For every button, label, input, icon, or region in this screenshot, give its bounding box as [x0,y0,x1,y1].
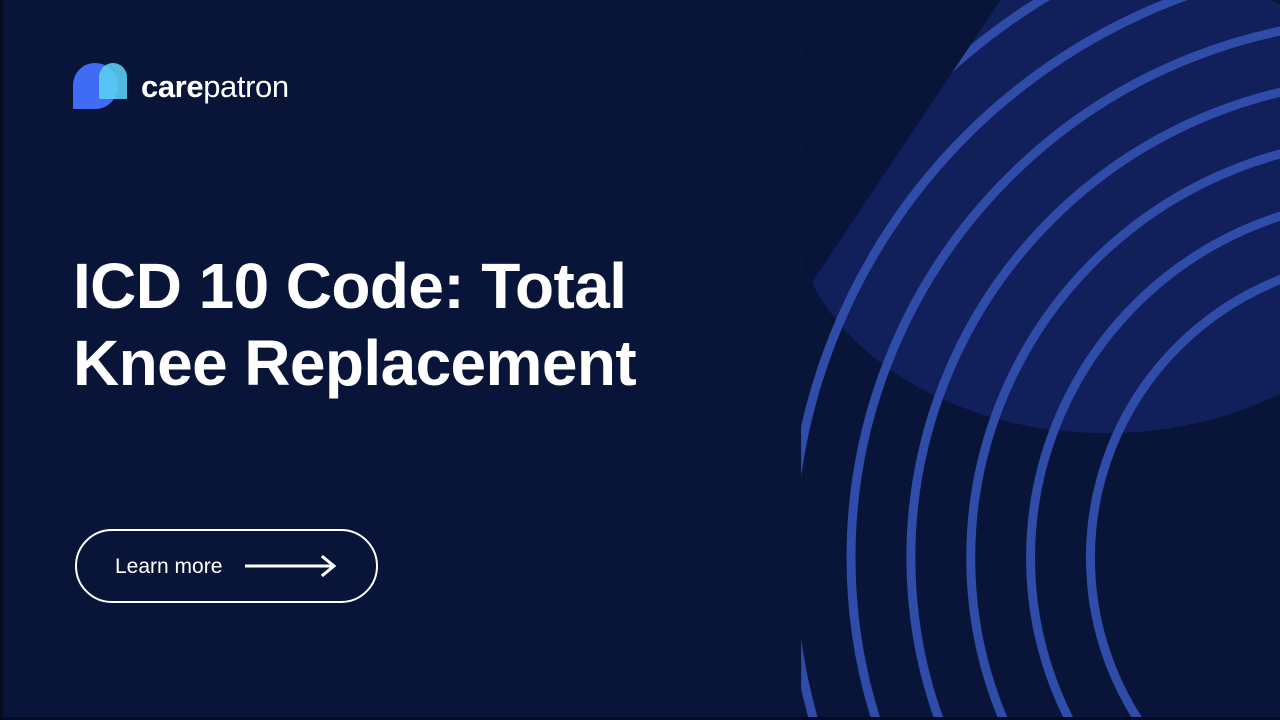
wordmark-light: patron [203,69,289,104]
decor-ellipse [791,0,1280,433]
brand-logo[interactable]: carepatron [73,63,289,109]
arrow-right-icon [244,555,338,577]
brand-wordmark: carepatron [141,71,289,102]
learn-more-label: Learn more [115,556,222,577]
learn-more-button[interactable]: Learn more [75,529,378,603]
wordmark-bold: care [141,69,203,104]
promo-banner: carepatron ICD 10 Code: Total Knee Repla… [0,0,1280,720]
page-title: ICD 10 Code: Total Knee Replacement [73,248,793,402]
carepatron-logo-mark [73,63,127,109]
